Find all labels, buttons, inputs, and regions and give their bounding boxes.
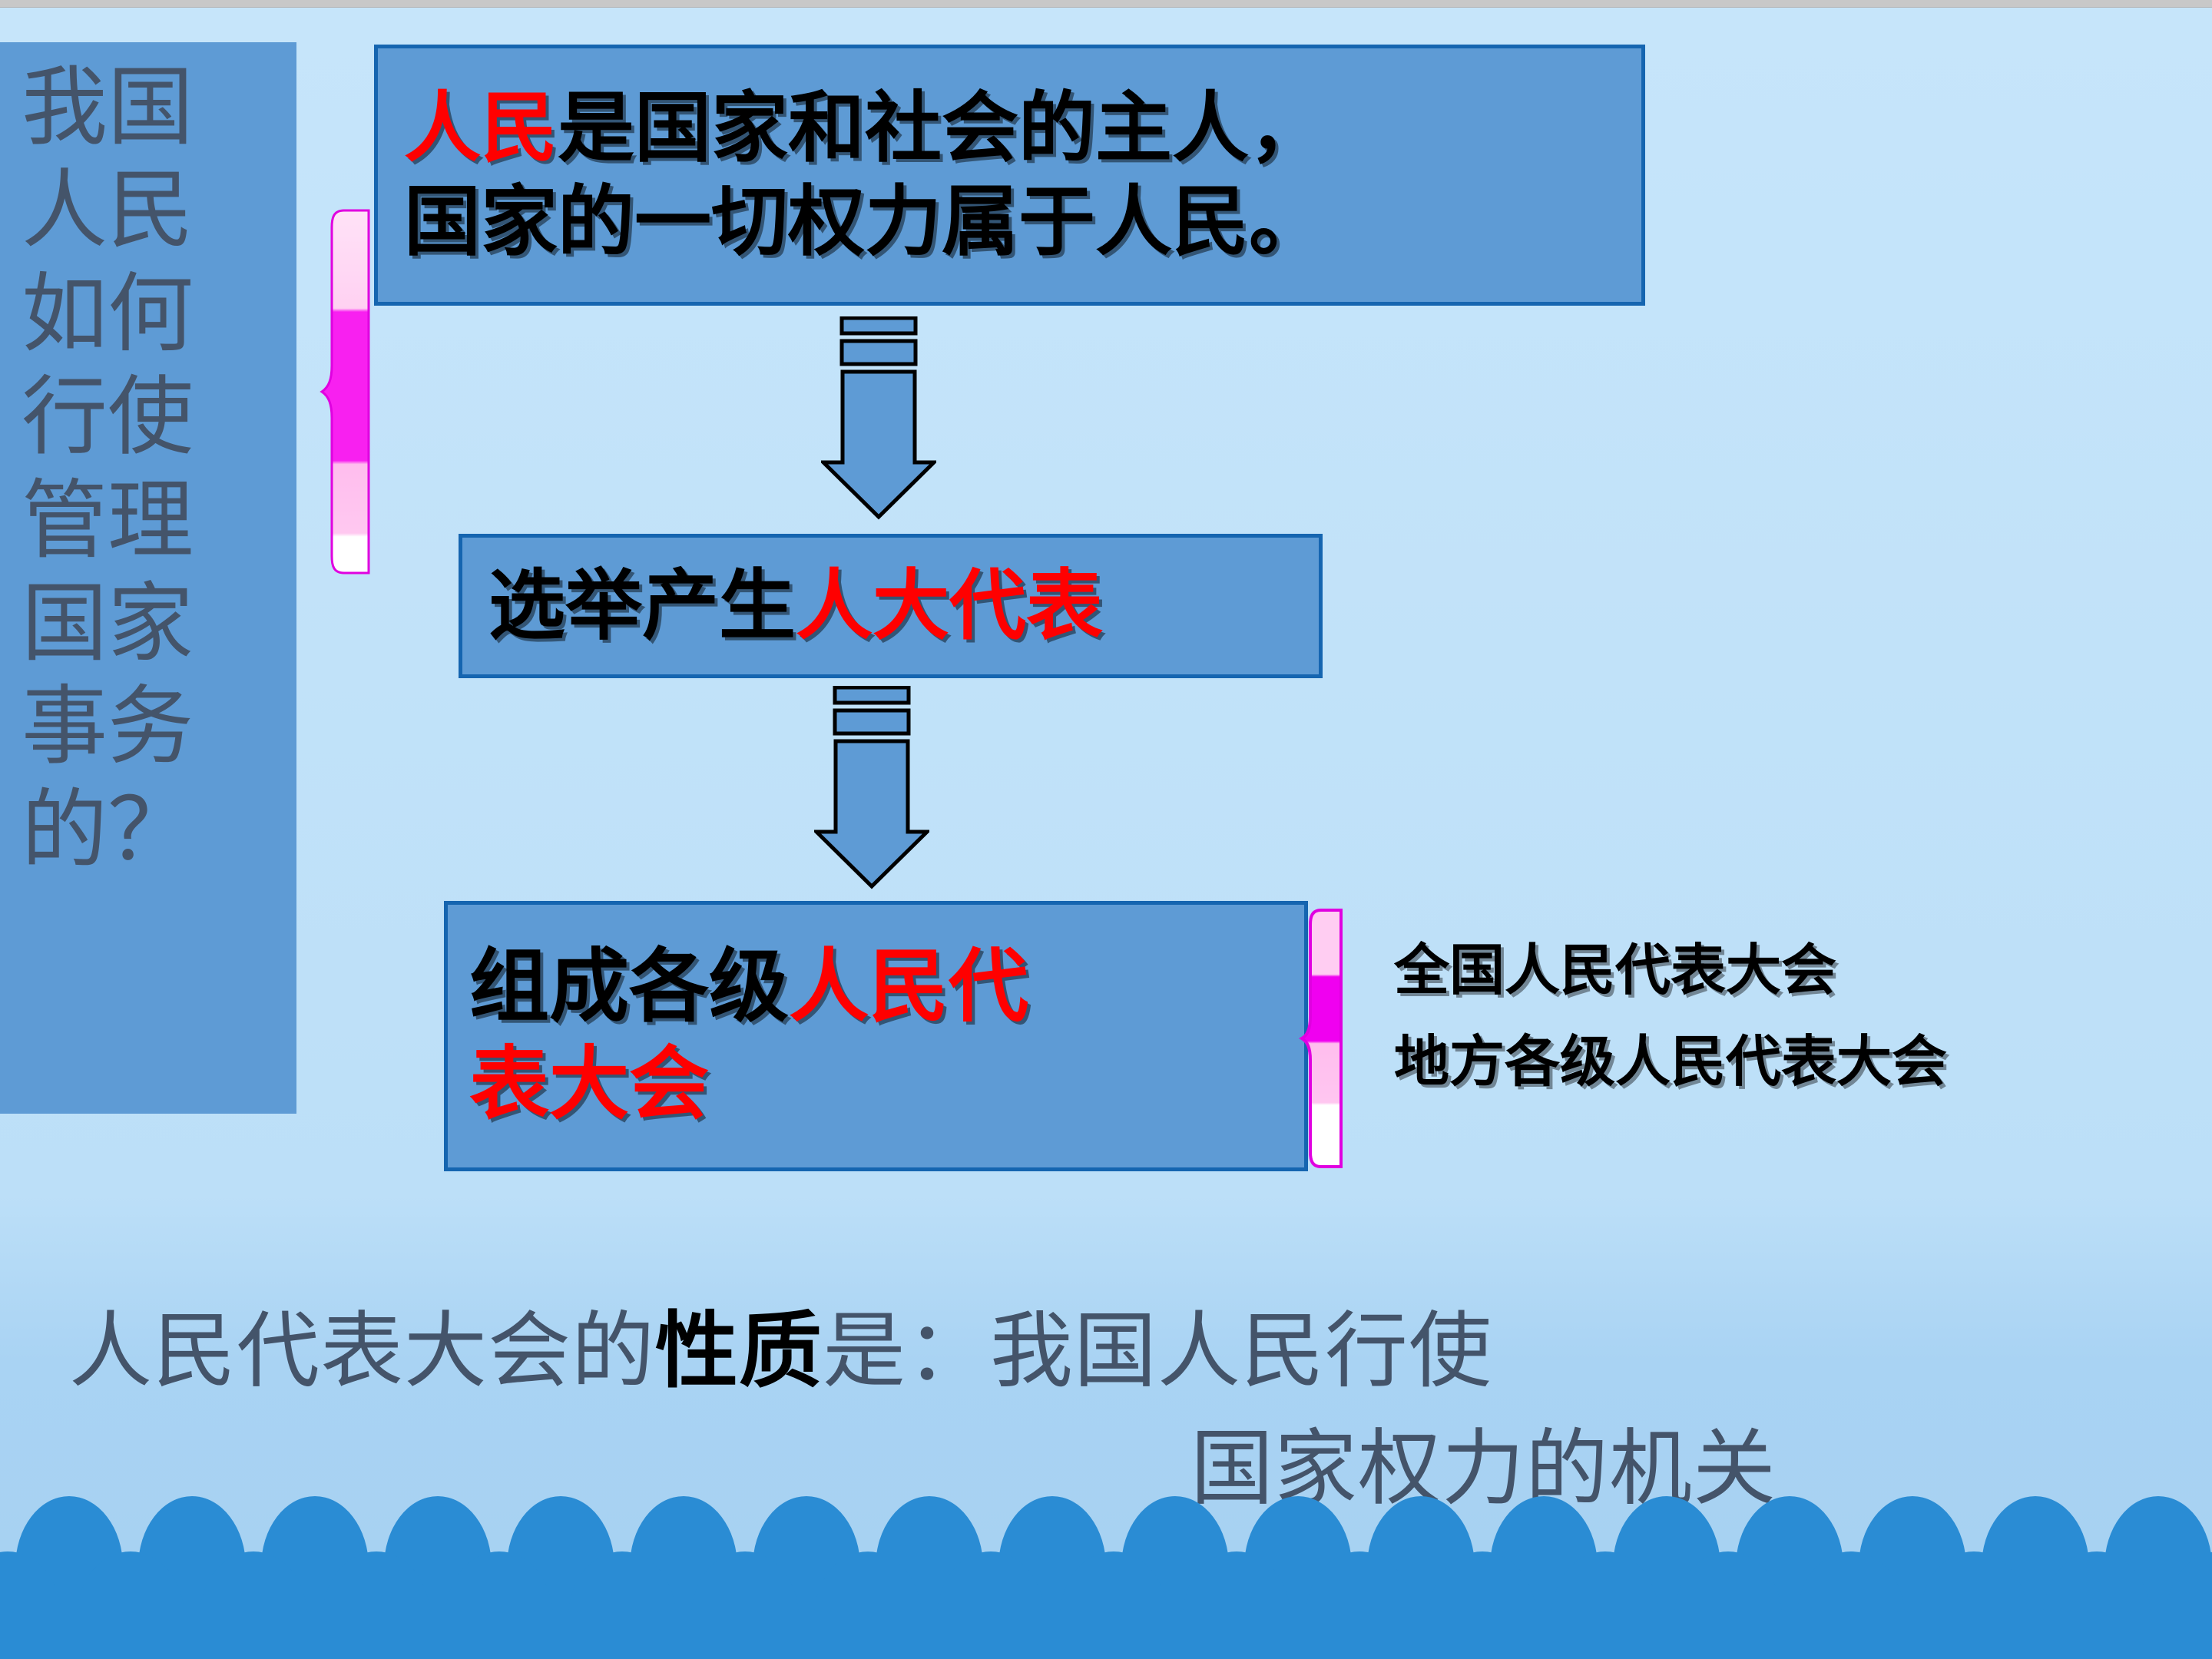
down-arrow-icon-1 bbox=[821, 316, 936, 520]
box1-line1-highlight: 人民 bbox=[404, 85, 558, 171]
box2-red-text: 人大代表 bbox=[796, 563, 1103, 649]
assembly-list-item-local: 地方各级人民代表大会 bbox=[1394, 1017, 2177, 1108]
box3-line1: 组成各级人民代 bbox=[469, 939, 1283, 1036]
conclusion-part2: 是：我国人民行使 bbox=[823, 1304, 1492, 1397]
conclusion-emphasis: 性质 bbox=[655, 1304, 823, 1397]
statement-box-2: 选举产生人大代表 bbox=[459, 534, 1323, 678]
box1-line1-rest: 是国家和社会的主人， bbox=[558, 85, 1326, 171]
box3-black-text: 组成各级 bbox=[469, 942, 789, 1031]
assembly-list-item-national: 全国人民代表大会 bbox=[1394, 926, 2177, 1017]
slide-canvas: 我国人民如何行使管理国家事务的？ 人民是国家和社会的主人， bbox=[0, 0, 2212, 1659]
box3-line2: 表大会 bbox=[469, 1036, 1283, 1134]
conclusion-part1: 人民代表大会的 bbox=[69, 1304, 655, 1397]
left-question-panel: 我国人民如何行使管理国家事务的？ bbox=[0, 42, 296, 1114]
left-grouping-brace bbox=[321, 207, 373, 576]
box1-line2: 国家的一切权力属于人民。 bbox=[404, 175, 1615, 269]
right-grouping-brace bbox=[1301, 908, 1347, 1169]
conclusion-line-1: 人民代表大会的性质是：我国人民行使 bbox=[69, 1292, 2143, 1409]
bottom-arch-decoration bbox=[0, 1494, 2212, 1659]
statement-box-3: 组成各级人民代 表大会 bbox=[444, 901, 1308, 1171]
box3-red-text-1: 人民代 bbox=[789, 942, 1028, 1031]
box2-line: 选举产生人大代表 bbox=[488, 559, 1293, 653]
box1-line1: 人民是国家和社会的主人， bbox=[404, 81, 1615, 175]
down-arrow-icon-2 bbox=[814, 686, 929, 889]
assembly-list: 全国人民代表大会 地方各级人民代表大会 bbox=[1394, 926, 2177, 1108]
left-question-text: 我国人民如何行使管理国家事务的？ bbox=[22, 56, 275, 882]
window-top-strip bbox=[0, 0, 2212, 8]
statement-box-1: 人民是国家和社会的主人， 国家的一切权力属于人民。 bbox=[374, 45, 1645, 306]
box2-black-text: 选举产生 bbox=[488, 563, 796, 649]
conclusion-text: 人民代表大会的性质是：我国人民行使 国家权力的机关 bbox=[69, 1292, 2143, 1528]
